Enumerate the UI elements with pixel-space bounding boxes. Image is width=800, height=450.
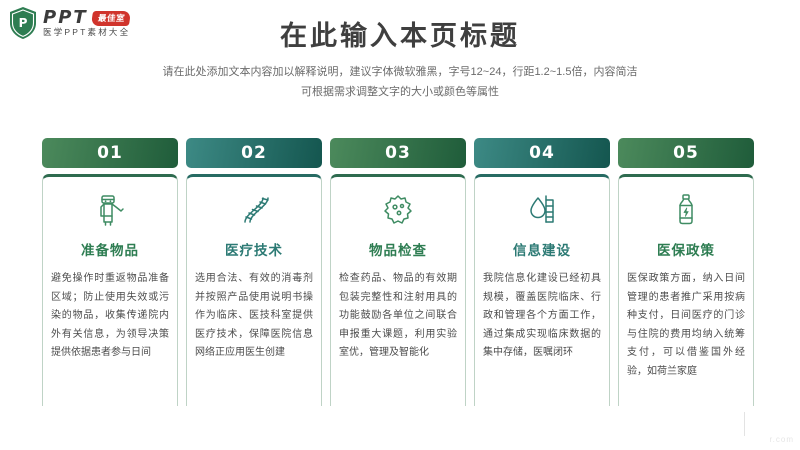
- number-label: 01: [97, 143, 123, 163]
- content-card-03[interactable]: 物品检查 检查药品、物品的有效期包装完整性和注射用具的功能鼓励各单位之间联合申报…: [330, 174, 466, 406]
- content-card-01[interactable]: 准备物品 避免操作时重返物品准备区域；防止使用失效或污染的物品，收集传递院内外有…: [42, 174, 178, 406]
- doctor-icon: [92, 189, 128, 231]
- card-column-04: 04 信息建设 我院信息化建设已经初具规模，覆盖医院临床、行政和管理各个方面工作…: [474, 138, 610, 406]
- card-body-text: 选用合法、有效的消毒剂并按照产品使用说明书操作为临床、医技科室提供医疗技术，保障…: [195, 270, 313, 363]
- watermark-divider: [744, 412, 745, 436]
- card-column-03: 03 物品检查 检查药品、物品的有效期包装完整性和注射用具的功能鼓励各单位之间联…: [330, 138, 466, 406]
- number-badge-02: 02: [186, 138, 322, 168]
- card-heading: 物品检查: [369, 239, 427, 259]
- slide-root: P PPT 最佳室 医学PPT素材大全 在此输入本页标题 请在此处添加文本内容加…: [0, 0, 800, 450]
- number-badge-01: 01: [42, 138, 178, 168]
- card-column-01: 01 准备物品 避免操作时: [42, 138, 178, 406]
- number-badge-05: 05: [618, 138, 754, 168]
- card-heading: 医保政策: [657, 239, 715, 259]
- card-heading: 信息建设: [513, 239, 571, 259]
- subtitle-line-2: 可根据需求调整文字的大小或颜色等属性: [0, 82, 800, 102]
- card-body-text: 医保政策方面，纳入日间管理的患者推广采用按病种支付，日间医疗的门诊与住院的费用均…: [627, 270, 745, 381]
- blood-drop-icon: [524, 189, 560, 231]
- card-heading: 医疗技术: [225, 239, 283, 259]
- number-label: 03: [385, 143, 411, 163]
- number-label: 04: [529, 143, 555, 163]
- card-column-02: 02 医疗技术 选用合法、有效的消毒剂并按照产品使用: [186, 138, 322, 406]
- page-subtitle: 请在此处添加文本内容加以解释说明，建议字体微软雅黑，字号12~24，行距1.2~…: [0, 62, 800, 103]
- subtitle-line-1: 请在此处添加文本内容加以解释说明，建议字体微软雅黑，字号12~24，行距1.2~…: [0, 62, 800, 82]
- content-card-04[interactable]: 信息建设 我院信息化建设已经初具规模，覆盖医院临床、行政和管理各个方面工作，通过…: [474, 174, 610, 406]
- content-card-02[interactable]: 医疗技术 选用合法、有效的消毒剂并按照产品使用说明书操作为临床、医技科室提供医疗…: [186, 174, 322, 406]
- watermark-text: r.com: [769, 435, 794, 444]
- card-body-text: 避免操作时重返物品准备区域；防止使用失效或污染的物品，收集传递院内外有关信息，为…: [51, 270, 169, 363]
- number-badge-04: 04: [474, 138, 610, 168]
- page-title: 在此输入本页标题: [0, 14, 800, 53]
- dna-icon: [236, 189, 272, 231]
- cards-row: 01 准备物品 避免操作时: [42, 138, 758, 406]
- number-badge-03: 03: [330, 138, 466, 168]
- number-label: 02: [241, 143, 267, 163]
- number-label: 05: [673, 143, 699, 163]
- card-body-text: 检查药品、物品的有效期包装完整性和注射用具的功能鼓励各单位之间联合申报重大课题，…: [339, 270, 457, 363]
- content-card-05[interactable]: 医保政策 医保政策方面，纳入日间管理的患者推广采用按病种支付，日间医疗的门诊与住…: [618, 174, 754, 406]
- card-heading: 准备物品: [81, 239, 139, 259]
- card-column-05: 05 医保政策 医保政策方面，纳入日间管理的患者推广采用按病种支付，日间医疗的门…: [618, 138, 754, 406]
- medicine-bottle-icon: [668, 189, 704, 231]
- card-body-text: 我院信息化建设已经初具规模，覆盖医院临床、行政和管理各个方面工作，通过集成实现临…: [483, 270, 601, 363]
- virus-icon: [380, 189, 416, 231]
